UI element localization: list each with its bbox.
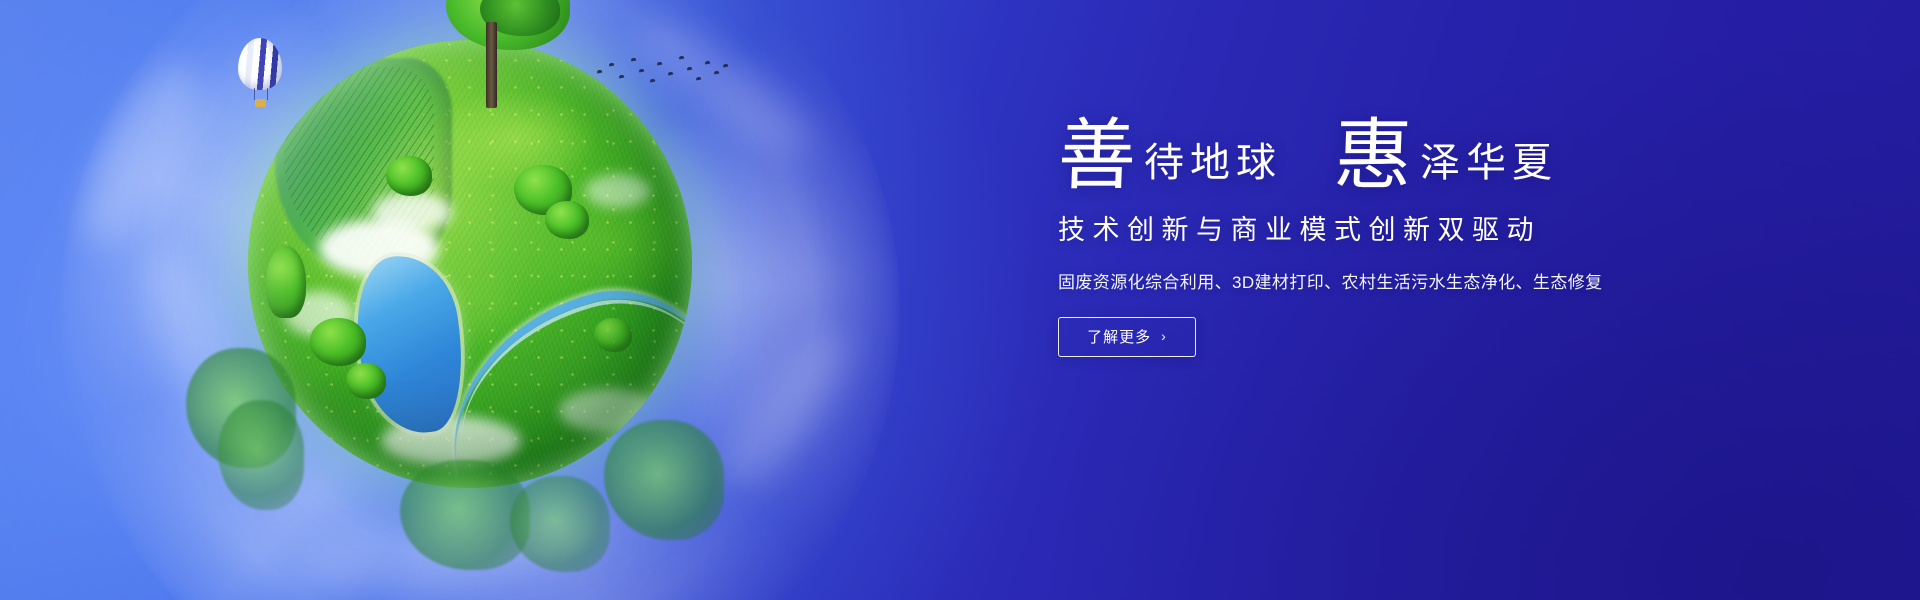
- tree-large: [428, 0, 578, 138]
- bird-icon: [639, 69, 645, 73]
- bird-icon: [705, 61, 711, 65]
- learn-more-button[interactable]: 了解更多 ›: [1058, 317, 1196, 357]
- bird-icon: [687, 67, 693, 71]
- bird-icon: [714, 71, 720, 75]
- bird-icon: [679, 56, 685, 60]
- bird-icon: [696, 77, 702, 81]
- chevron-right-icon: ›: [1161, 329, 1167, 343]
- learn-more-label: 了解更多: [1087, 326, 1151, 347]
- headline-char-shan: 善: [1057, 120, 1138, 192]
- hero-copy-block: 善 待地球 惠 泽华夏 技术创新与商业模式创新双驱动 固废资源化综合利用、3D建…: [1058, 120, 1758, 357]
- bird-icon: [650, 79, 656, 83]
- bird-icon: [619, 75, 625, 79]
- hot-air-balloon: [238, 38, 282, 112]
- globe-illustration: [248, 28, 692, 500]
- bird-icon: [631, 58, 637, 62]
- headline-daidiqiu: 待地球: [1144, 143, 1282, 192]
- hero-description: 固废资源化综合利用、3D建材打印、农村生活污水生态净化、生态修复: [1058, 268, 1758, 293]
- headline-char-hui: 惠: [1333, 120, 1414, 192]
- hero-banner: 善 待地球 惠 泽华夏 技术创新与商业模式创新双驱动 固废资源化综合利用、3D建…: [0, 0, 1920, 600]
- bird-icon: [597, 70, 603, 74]
- bird-icon: [668, 72, 674, 76]
- bird-flock: [595, 50, 730, 92]
- bird-icon: [609, 63, 615, 67]
- hero-subtitle: 技术创新与商业模式创新双驱动: [1058, 208, 1758, 247]
- tree-trunk: [486, 22, 497, 108]
- bird-icon: [723, 64, 729, 68]
- balloon-envelope: [238, 38, 282, 90]
- bird-icon: [657, 62, 663, 66]
- headline-zehuaxia: 泽华夏: [1420, 143, 1558, 192]
- balloon-basket: [255, 99, 266, 107]
- hero-headline: 善 待地球 惠 泽华夏: [1058, 120, 1758, 192]
